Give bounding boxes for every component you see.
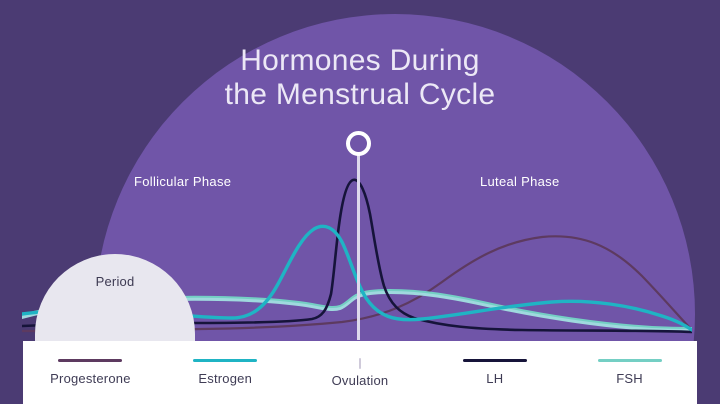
legend-label-lh: LH (486, 371, 503, 386)
legend-item-progesterone[interactable]: Progesterone (23, 359, 158, 386)
legend-label-ovulation: Ovulation (332, 373, 389, 388)
ovulation-marker-line (357, 152, 360, 340)
ovulation-marker-ring-icon (346, 131, 371, 156)
legend-item-estrogen[interactable]: Estrogen (158, 359, 293, 386)
legend-items: Progesterone Estrogen Ovulation LH FSH (23, 341, 697, 404)
luteal-phase-label: Luteal Phase (480, 174, 560, 189)
follicular-phase-label: Follicular Phase (134, 174, 231, 189)
period-label: Period (35, 274, 195, 289)
legend-label-estrogen: Estrogen (198, 371, 252, 386)
legend-item-ovulation[interactable]: Ovulation (293, 358, 428, 388)
legend-label-progesterone: Progesterone (50, 371, 130, 386)
legend-item-fsh[interactable]: FSH (562, 359, 697, 386)
legend-swatch-estrogen (193, 359, 257, 362)
page-title: Hormones During the Menstrual Cycle (0, 44, 720, 112)
legend-swatch-progesterone (58, 359, 122, 362)
legend-panel: Progesterone Estrogen Ovulation LH FSH (23, 341, 697, 404)
legend-swatch-ovulation (359, 358, 361, 369)
legend-item-lh[interactable]: LH (427, 359, 562, 386)
legend-swatch-lh (463, 359, 527, 362)
legend-label-fsh: FSH (616, 371, 643, 386)
infographic-root: Period Hormones During the Menstrual Cyc… (0, 0, 720, 404)
legend-swatch-fsh (598, 359, 662, 362)
